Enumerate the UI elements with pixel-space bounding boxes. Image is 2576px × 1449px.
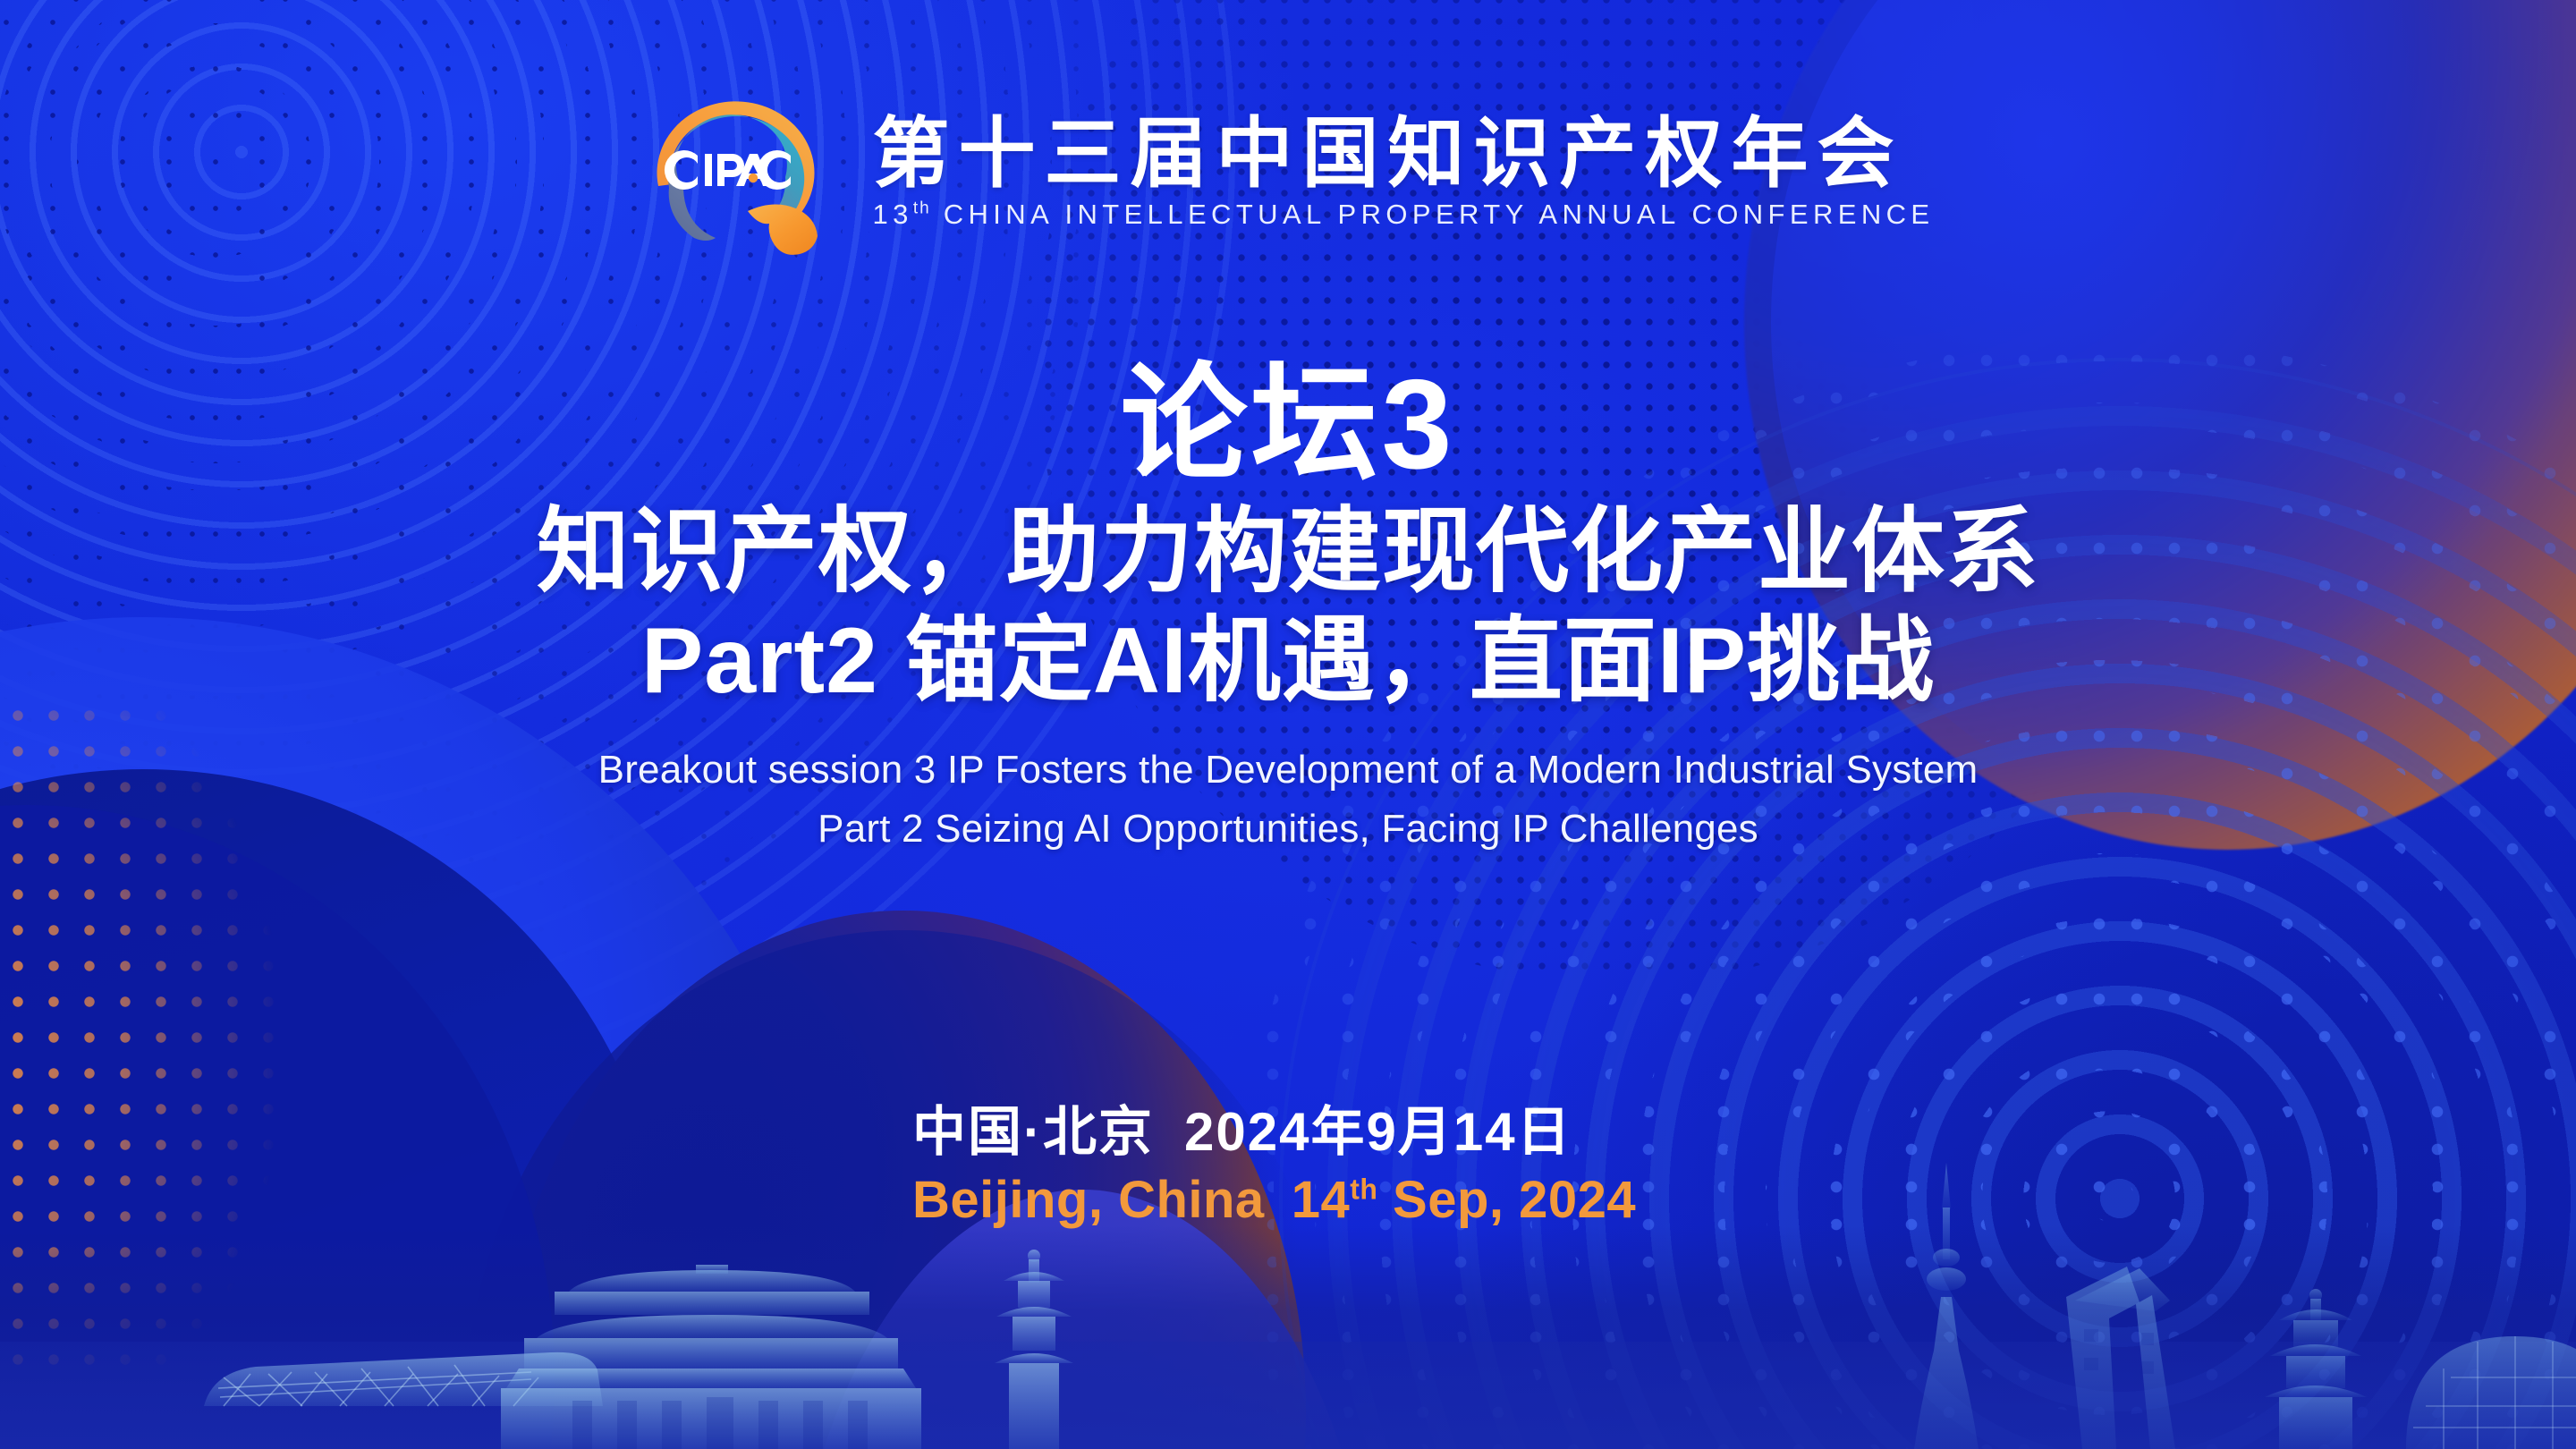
conference-header: 第十三届中国知识产权年会 13th CHINA INTELLECTUAL PRO…	[0, 89, 2576, 256]
event-place-cn: 中国·北京	[912, 1102, 1154, 1162]
event-place-date-cn: 中国·北京2024年9月14日	[912, 1098, 1636, 1165]
forum-subtitle-en-line2: Part 2 Seizing AI Opportunities, Facing …	[818, 800, 1758, 859]
tiananmen-gate-silhouette	[501, 1265, 921, 1449]
cipac-logo	[642, 89, 832, 256]
forum-title-group: 论坛3 知识产权，助力构建现代化产业体系 Part2 锚定AI机遇，直面IP挑战…	[0, 358, 2576, 859]
edition-number: 13	[873, 199, 913, 230]
event-date-cn: 2024年9月14日	[1184, 1102, 1572, 1162]
cipac-logo-dot	[748, 174, 757, 182]
temple-of-heaven-silhouette	[2265, 1289, 2367, 1449]
forum-subtitle-en-line1: Breakout session 3 IP Fosters the Develo…	[598, 741, 1979, 800]
edition-suffix: th	[913, 199, 931, 218]
conference-banner: 第十三届中国知识产权年会 13th CHINA INTELLECTUAL PRO…	[0, 0, 2576, 1449]
event-place-en: Beijing, China	[912, 1171, 1265, 1229]
event-date-en-suffix: th	[1350, 1174, 1377, 1206]
forum-number: 论坛3	[1121, 358, 1456, 493]
conference-title-block: 第十三届中国知识产权年会 13th CHINA INTELLECTUAL PRO…	[873, 115, 1935, 230]
conference-title-cn: 第十三届中国知识产权年会	[873, 115, 1935, 192]
event-place-date-block: 中国·北京2024年9月14日 Beijing, China14th Sep, …	[912, 1098, 1636, 1232]
dome-silhouette	[2406, 1336, 2576, 1449]
cipac-wordmark	[664, 150, 790, 190]
cctv-headquarters-silhouette	[2066, 1267, 2175, 1449]
conference-title-en: 13th CHINA INTELLECTUAL PROPERTY ANNUAL …	[873, 199, 1935, 230]
conference-title-en-text: CHINA INTELLECTUAL PROPERTY ANNUAL CONFE…	[944, 199, 1935, 230]
event-date-en-day: 14	[1292, 1171, 1351, 1229]
forum-subtitle-cn-line2: Part2 锚定AI机遇，直面IP挑战	[641, 607, 1935, 716]
cctv-tower-silhouette	[1914, 1163, 1979, 1449]
event-place-date-en: Beijing, China14th Sep, 2024	[912, 1169, 1636, 1232]
pagoda-silhouette	[995, 1250, 1073, 1449]
forum-subtitle-cn-line1: 知识产权，助力构建现代化产业体系	[537, 498, 2039, 606]
event-date-en-rest: Sep, 2024	[1393, 1171, 1636, 1229]
cipac-swirl-logo-icon	[642, 89, 832, 256]
